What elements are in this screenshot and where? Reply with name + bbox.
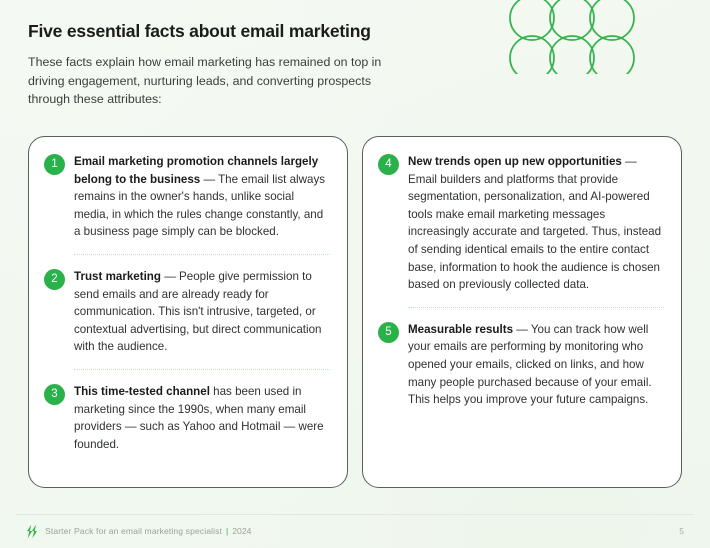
facts-cards-container: 1 Email marketing promotion channels lar…: [28, 136, 682, 488]
fact-item-5: 5 Measurable results — You can track how…: [378, 321, 664, 409]
fact-lead-4: New trends open up new opportunities: [408, 155, 622, 168]
facts-card-left: 1 Email marketing promotion channels lar…: [28, 136, 348, 488]
lightning-bolt-logo-icon: [26, 524, 39, 539]
fact-item-2: 2 Trust marketing — People give permissi…: [44, 268, 330, 356]
fact-divider: [408, 307, 664, 308]
fact-text-3: This time-tested channel has been used i…: [74, 383, 330, 453]
fact-body-4: — Email builders and platforms that prov…: [408, 155, 661, 291]
footer: Starter Pack for an email marketing spec…: [26, 521, 684, 541]
fact-text-4: New trends open up new opportunities — E…: [408, 153, 664, 294]
footer-year: 2024: [232, 526, 251, 536]
fact-lead-3: This time-tested channel: [74, 385, 210, 398]
overlapping-circles-pattern-icon: [509, 0, 635, 74]
footer-separator: |: [226, 526, 228, 536]
page-title: Five essential facts about email marketi…: [28, 20, 448, 42]
fact-text-1: Email marketing promotion channels large…: [74, 153, 330, 241]
fact-text-5: Measurable results — You can track how w…: [408, 321, 664, 409]
fact-lead-2: Trust marketing: [74, 270, 161, 283]
page-number: 5: [679, 526, 684, 536]
fact-divider: [74, 254, 330, 255]
fact-text-2: Trust marketing — People give permission…: [74, 268, 330, 356]
fact-divider: [74, 369, 330, 370]
header: Five essential facts about email marketi…: [28, 20, 448, 109]
fact-item-1: 1 Email marketing promotion channels lar…: [44, 153, 330, 241]
footer-divider: [16, 514, 694, 515]
page-intro: These facts explain how email marketing …: [28, 53, 408, 109]
fact-number-badge-5: 5: [378, 322, 399, 343]
facts-card-right: 4 New trends open up new opportunities —…: [362, 136, 682, 488]
fact-number-badge-2: 2: [44, 269, 65, 290]
fact-lead-5: Measurable results: [408, 323, 513, 336]
fact-number-badge-1: 1: [44, 154, 65, 175]
footer-text: Starter Pack for an email marketing spec…: [45, 526, 222, 536]
fact-item-3: 3 This time-tested channel has been used…: [44, 383, 330, 453]
fact-number-badge-4: 4: [378, 154, 399, 175]
fact-item-4: 4 New trends open up new opportunities —…: [378, 153, 664, 294]
fact-number-badge-3: 3: [44, 384, 65, 405]
slide-root: Five essential facts about email marketi…: [0, 0, 710, 548]
